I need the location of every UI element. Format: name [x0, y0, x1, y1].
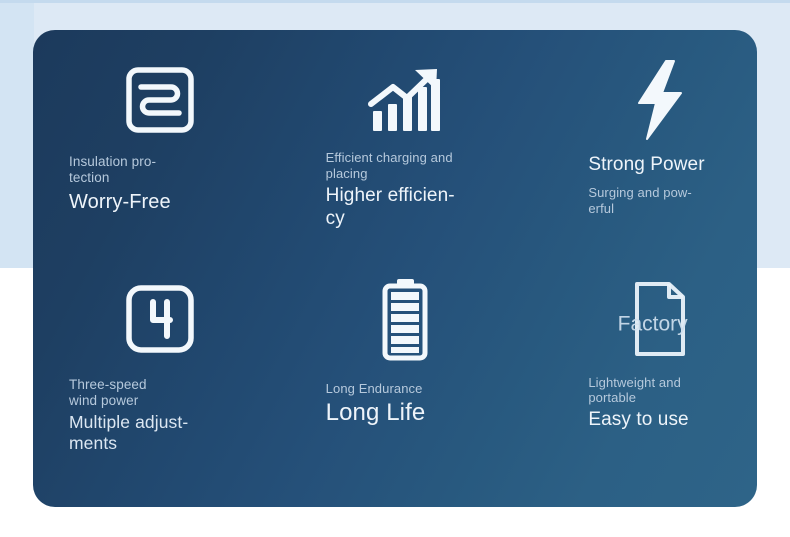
number-four-square-icon [57, 271, 264, 367]
feature-item-efficiency: Efficient charging and placing Higher ef… [278, 52, 513, 271]
feature-title: Strong Power [588, 154, 728, 177]
feature-subtitle: Surging and pow- erful [588, 185, 720, 217]
feature-item-endurance: Long Endurance Long Life [278, 271, 513, 490]
feature-subtitle: Long Endurance [326, 381, 444, 397]
feature-text-block: Three-speed wind power Multiple adjust- … [57, 377, 264, 455]
feature-card: Insulation pro- tection Worry-Free [33, 30, 757, 507]
insulation-layers-icon [57, 52, 264, 148]
feature-text-block: Lightweight and portable Easy to use [526, 375, 733, 433]
feature-text-block: Efficient charging and placing Higher ef… [292, 150, 499, 230]
document-page-icon: Factory [556, 271, 757, 367]
feature-subtitle: Efficient charging and placing [326, 150, 458, 182]
battery-full-icon [302, 271, 509, 367]
feature-title: Long Life [326, 399, 496, 428]
feature-title: Multiple adjust- ments [69, 412, 209, 454]
screenshot-stage: Insulation pro- tection Worry-Free [0, 0, 790, 537]
feature-item-insulation: Insulation pro- tection Worry-Free [43, 52, 278, 271]
growth-bar-chart-icon [302, 52, 509, 148]
light-blue-panel-left-strip [0, 3, 34, 268]
feature-text-block: Long Endurance Long Life [292, 381, 499, 429]
feature-grid: Insulation pro- tection Worry-Free [33, 30, 757, 507]
feature-item-strong-power: Strong Power Surging and pow- erful [512, 52, 747, 271]
feature-title: Easy to use [588, 409, 728, 432]
lightning-bolt-icon [556, 52, 757, 148]
feature-item-portable: Factory Lightweight and portable Easy to… [512, 271, 747, 490]
top-rule-divider [0, 0, 790, 3]
feature-item-wind-speed: Three-speed wind power Multiple adjust- … [43, 271, 278, 490]
feature-text-block: Insulation pro- tection Worry-Free [57, 154, 264, 214]
feature-subtitle: Lightweight and portable [588, 375, 720, 407]
feature-text-block: Strong Power Surging and pow- erful [526, 154, 733, 217]
feature-title: Higher efficien- cy [326, 185, 466, 231]
feature-subtitle: Three-speed wind power [69, 377, 187, 410]
feature-subtitle: Insulation pro- tection [69, 154, 187, 187]
feature-title: Worry-Free [69, 190, 209, 214]
